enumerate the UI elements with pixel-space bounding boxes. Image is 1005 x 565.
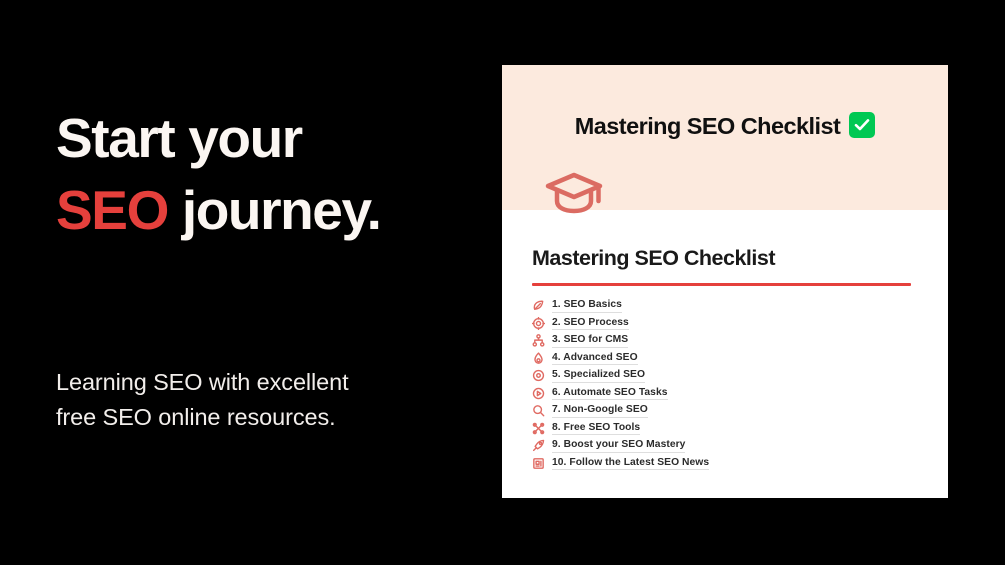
hero-subtitle: Learning SEO with excellent free SEO onl… — [56, 365, 456, 436]
sitemap-icon — [532, 334, 545, 347]
card-header-title-text: Mastering SEO Checklist — [575, 113, 841, 139]
flame-icon — [532, 352, 545, 365]
green-check-badge-icon — [849, 112, 875, 138]
card-body: Mastering SEO Checklist 1. SEO Basics2. … — [502, 246, 948, 472]
list-item-label: 6. Automate SEO Tasks — [552, 386, 668, 401]
card-header-band: Mastering SEO Checklist — [502, 65, 948, 210]
checklist: 1. SEO Basics2. SEO Process3. SEO for CM… — [532, 297, 918, 472]
headline-accent-seo: SEO — [56, 179, 168, 241]
checklist-card: Mastering SEO Checklist Mastering SEO Ch… — [502, 65, 948, 498]
list-item[interactable]: 9. Boost your SEO Mastery — [532, 437, 918, 454]
checklist-heading: Mastering SEO Checklist — [532, 246, 918, 271]
headline-rest: journey. — [168, 179, 381, 241]
list-item[interactable]: 10. Follow the Latest SEO News — [532, 455, 918, 472]
list-item[interactable]: 4. Advanced SEO — [532, 350, 918, 367]
list-item-label: 5. Specialized SEO — [552, 368, 645, 383]
list-item-label: 3. SEO for CMS — [552, 333, 628, 348]
headline-line-1: Start your — [56, 103, 476, 175]
list-item[interactable]: 8. Free SEO Tools — [532, 420, 918, 437]
slide-canvas: Start your SEO journey. Learning SEO wit… — [0, 0, 1005, 565]
gear-target-icon — [532, 317, 545, 330]
newspaper-icon — [532, 457, 545, 470]
subtitle-line-2: free SEO online resources. — [56, 400, 456, 435]
list-item-label: 9. Boost your SEO Mastery — [552, 438, 685, 453]
red-divider — [532, 283, 911, 286]
hero-text-block: Start your SEO journey. — [56, 103, 476, 246]
graduation-cap-icon — [543, 169, 605, 217]
list-item-label: 8. Free SEO Tools — [552, 421, 640, 436]
rocket-icon — [532, 439, 545, 452]
list-item[interactable]: 2. SEO Process — [532, 315, 918, 332]
target-icon — [532, 369, 545, 382]
list-item[interactable]: 1. SEO Basics — [532, 297, 918, 314]
play-circle-icon — [532, 387, 545, 400]
list-item[interactable]: 7. Non-Google SEO — [532, 402, 918, 419]
list-item-label: 2. SEO Process — [552, 316, 629, 331]
headline-line-2: SEO journey. — [56, 175, 476, 247]
list-item[interactable]: 3. SEO for CMS — [532, 332, 918, 349]
leaf-icon — [532, 299, 545, 312]
list-item[interactable]: 6. Automate SEO Tasks — [532, 385, 918, 402]
list-item-label: 7. Non-Google SEO — [552, 403, 648, 418]
subtitle-line-1: Learning SEO with excellent — [56, 365, 456, 400]
list-item-label: 4. Advanced SEO — [552, 351, 638, 366]
page-title: Start your SEO journey. — [56, 103, 476, 246]
list-item[interactable]: 5. Specialized SEO — [532, 367, 918, 384]
list-item-label: 10. Follow the Latest SEO News — [552, 456, 709, 471]
card-header-title: Mastering SEO Checklist — [502, 112, 948, 140]
scissors-icon — [532, 422, 545, 435]
magnifier-icon — [532, 404, 545, 417]
list-item-label: 1. SEO Basics — [552, 298, 622, 313]
